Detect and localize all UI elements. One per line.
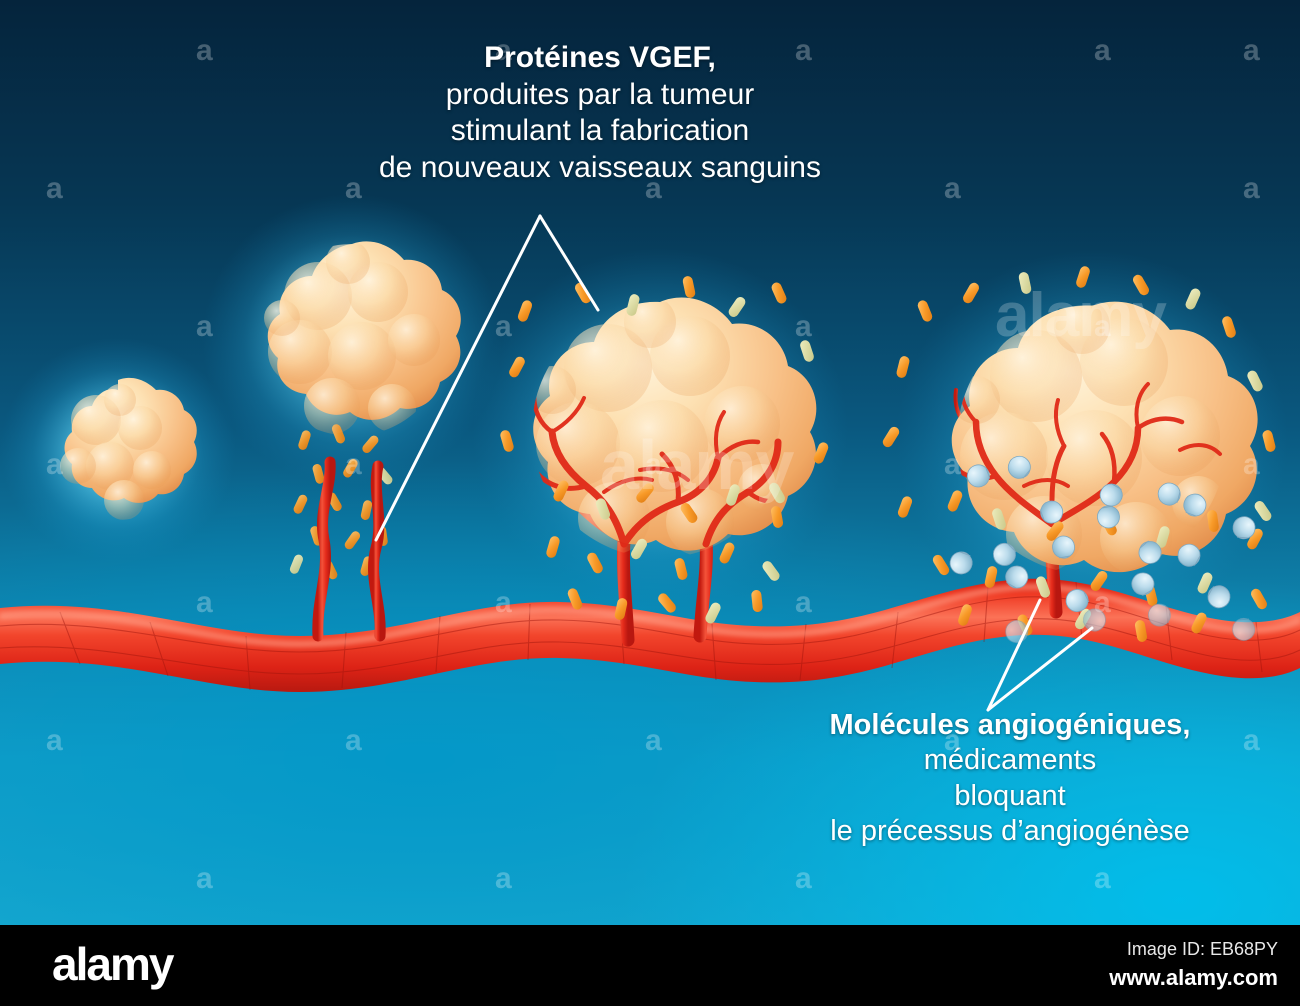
vgef-label-line-3: de nouveaux vaisseaux sanguins	[190, 150, 1010, 187]
alamy-logo: alamy	[52, 941, 172, 987]
image-id-text: Image ID: EB68PY	[1018, 939, 1278, 960]
vgef-label: Protéines VGEF, produites par la tumeur …	[190, 40, 1010, 186]
vgef-label-line-1: produites par la tumeur	[190, 77, 1010, 114]
illustration-canvas: aaaaaaaaaaaaaaaaaaaaaaaaaaaaaaaaalamyala…	[0, 0, 1300, 925]
illustration-screenshot: aaaaaaaaaaaaaaaaaaaaaaaaaaaaaaaaalamyala…	[0, 0, 1300, 1006]
vgef-label-line-2: stimulant la fabrication	[190, 113, 1010, 150]
molecules-label-line-2: bloquant	[740, 779, 1280, 814]
stock-footer-bar: alamy Image ID: EB68PY www.alamy.com	[0, 925, 1300, 1006]
molecules-label-line-3: le précessus d’angiogénèse	[740, 814, 1280, 849]
molecules-label-line-1: médicaments	[740, 743, 1280, 778]
vgef-label-heading: Protéines VGEF,	[190, 40, 1010, 77]
alamy-website-text: www.alamy.com	[1018, 965, 1278, 991]
angiogenic-molecules-label: Molécules angiogéniques, médicaments blo…	[740, 708, 1280, 850]
molecules-label-heading: Molécules angiogéniques,	[740, 708, 1280, 743]
